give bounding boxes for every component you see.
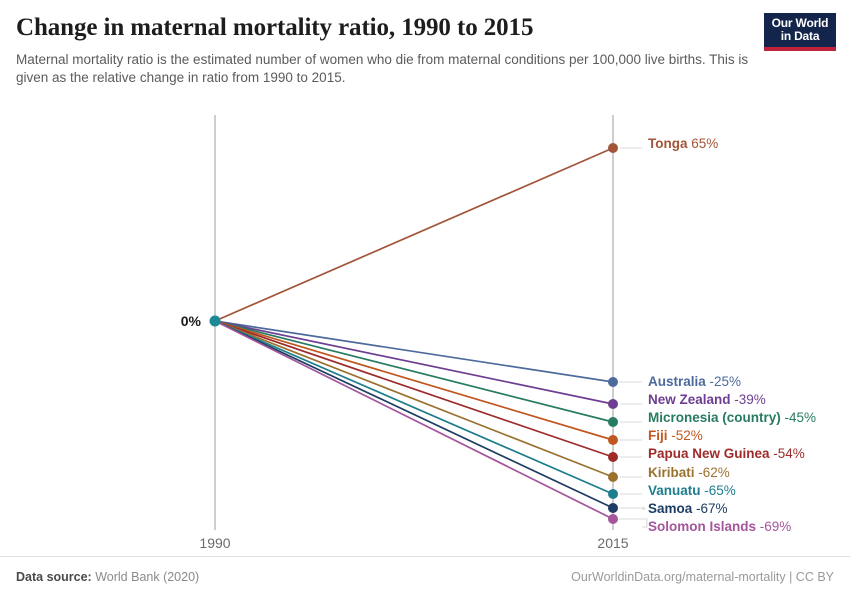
series-labels: 0%Tonga 65%Australia -25%New Zealand -39… [181,136,816,534]
series-value: -69% [760,519,792,534]
series-value: -54% [773,446,805,461]
series-label[interactable]: Samoa -67% [648,501,728,516]
connector-line [619,508,645,509]
series-label[interactable]: Papua New Guinea -54% [648,446,805,461]
slope-chart-svg: 0%Tonga 65%Australia -25%New Zealand -39… [0,100,850,550]
series-value: -25% [710,374,742,389]
owid-logo[interactable]: Our World in Data [764,13,836,51]
series-value: -65% [704,483,736,498]
slope-line-samoa[interactable] [215,321,613,508]
series-name: Micronesia (country) [648,410,785,425]
series-label[interactable]: Australia -25% [648,374,741,389]
endpoint-dot[interactable] [608,143,618,153]
series-value: 65% [691,136,718,151]
endpoint-dot[interactable] [608,417,618,427]
series-value: -62% [698,465,730,480]
data-source: Data source: World Bank (2020) [16,570,199,584]
series-value: -45% [785,410,817,425]
endpoint-dot[interactable] [608,472,618,482]
chart-subtitle: Maternal mortality ratio is the estimate… [16,51,751,88]
series-name: Vanuatu [648,483,704,498]
label-connectors [619,148,647,527]
endpoint-dot[interactable] [608,399,618,409]
slope-line-papua-new-guinea[interactable] [215,321,613,457]
series-name: New Zealand [648,392,734,407]
series-name: Fiji [648,428,671,443]
series-label[interactable]: Kiribati -62% [648,465,730,480]
slope-lines [215,148,613,519]
endpoint-dot[interactable] [608,489,618,499]
slope-line-kiribati[interactable] [215,321,613,477]
series-label[interactable]: Fiji -52% [648,428,703,443]
endpoint-dot[interactable] [608,514,618,524]
page-title: Change in maternal mortality ratio, 1990… [16,14,834,43]
series-name: Australia [648,374,710,389]
axis-tick-labels: 19902015 [199,535,628,550]
series-name: Papua New Guinea [648,446,773,461]
owid-logo-line2: in Data [781,30,820,43]
endpoint-dot[interactable] [608,503,618,513]
origin-dot[interactable] [210,316,221,327]
series-label[interactable]: Solomon Islands -69% [648,519,791,534]
owid-url[interactable]: OurWorldinData.org/maternal-mortality | … [571,570,834,584]
series-name: Solomon Islands [648,519,760,534]
series-name: Kiribati [648,465,698,480]
endpoint-dot[interactable] [608,377,618,387]
series-label[interactable]: Tonga 65% [648,136,718,151]
slope-chart: 0%Tonga 65%Australia -25%New Zealand -39… [0,100,850,550]
series-value: -67% [696,501,728,516]
zero-axis-label: 0% [181,313,202,329]
series-label[interactable]: Vanuatu -65% [648,483,736,498]
chart-header: Change in maternal mortality ratio, 1990… [0,0,850,88]
endpoint-dot[interactable] [608,435,618,445]
slope-line-fiji[interactable] [215,321,613,440]
tick-label-1990: 1990 [199,535,230,550]
tick-label-2015: 2015 [597,535,628,550]
series-label[interactable]: Micronesia (country) -45% [648,410,816,425]
endpoint-dots [210,143,619,524]
series-name: Samoa [648,501,696,516]
endpoint-dot[interactable] [608,452,618,462]
series-value: -39% [734,392,766,407]
series-label[interactable]: New Zealand -39% [648,392,766,407]
slope-line-new-zealand[interactable] [215,321,613,404]
series-name: Tonga [648,136,691,151]
series-value: -52% [671,428,703,443]
slope-line-tonga[interactable] [215,148,613,321]
chart-footer: Data source: World Bank (2020) OurWorldi… [0,556,850,600]
data-source-prefix: Data source: [16,570,92,584]
data-source-value: World Bank (2020) [95,570,199,584]
connector-line [619,519,647,527]
